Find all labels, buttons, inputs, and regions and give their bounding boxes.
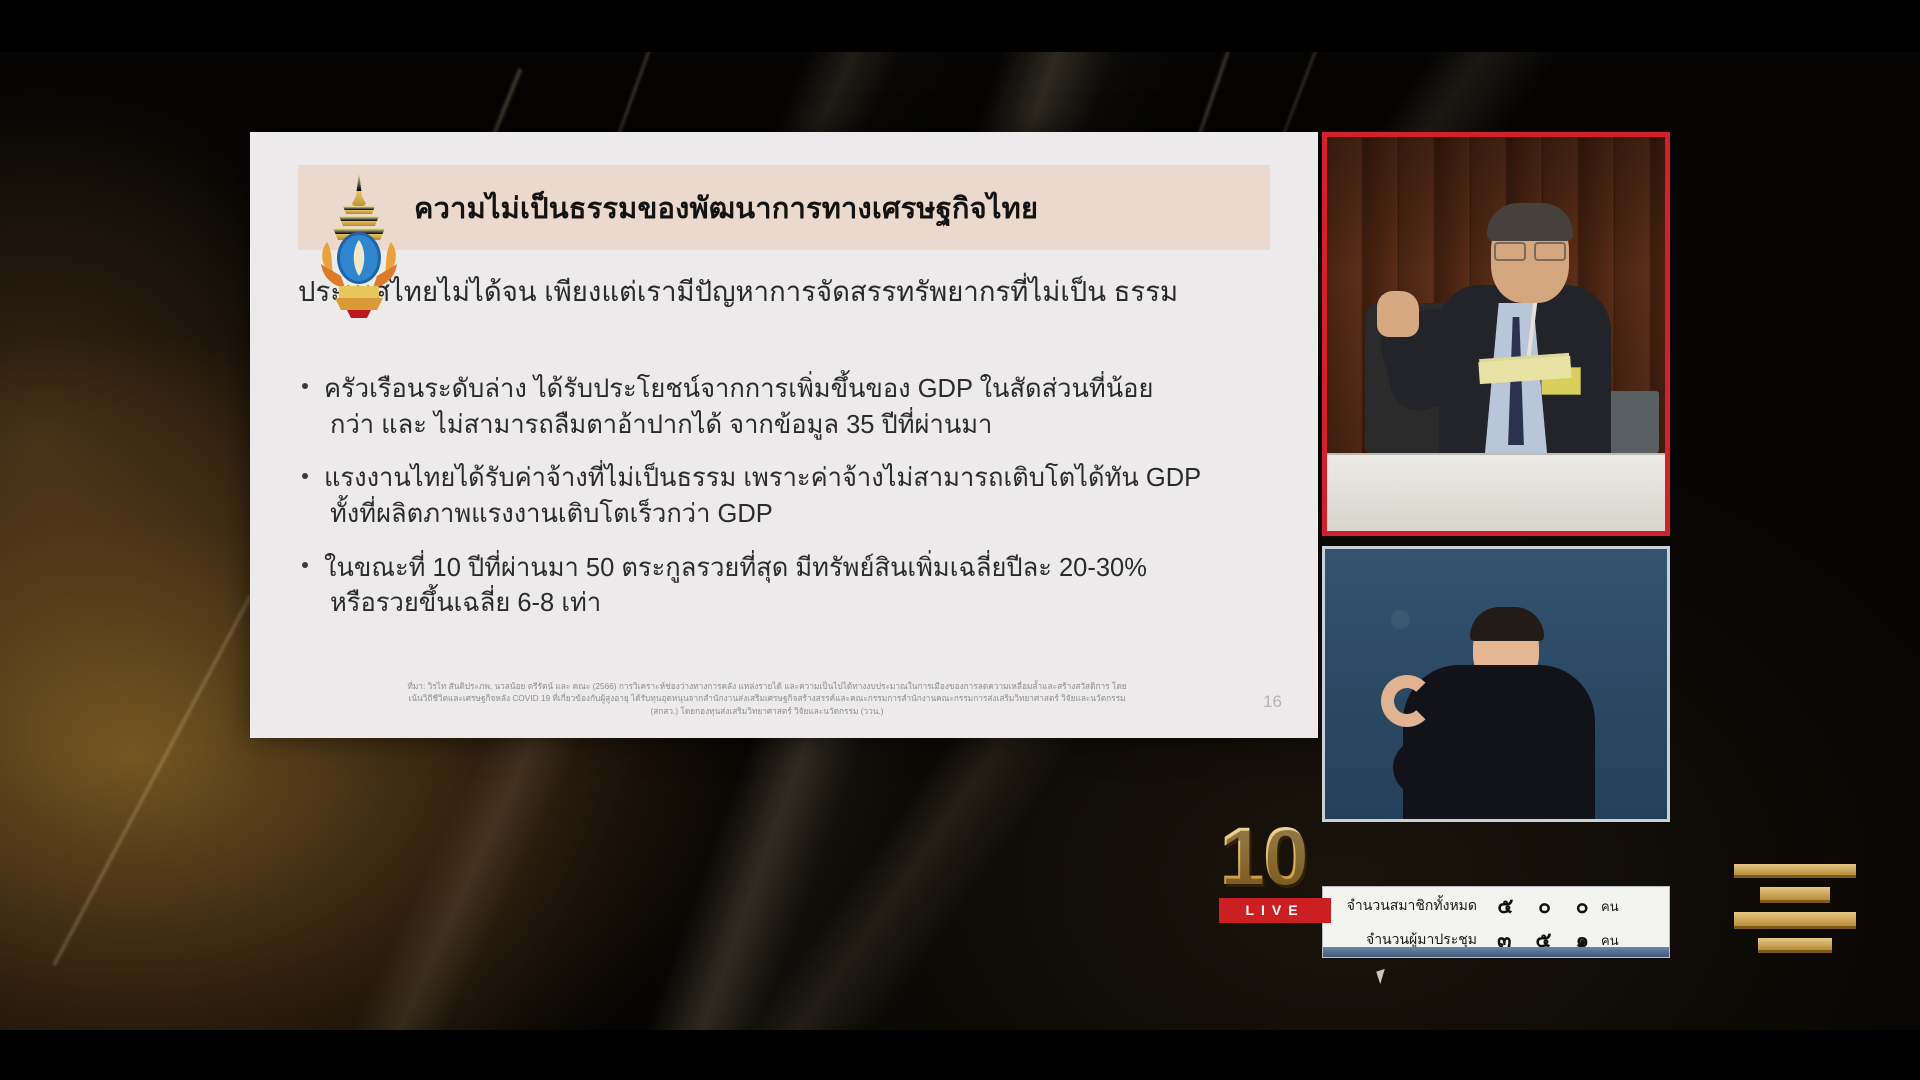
chamber-desk (1327, 453, 1665, 531)
slide-footnote-source: ที่มา: วิรไท สันติประภพ, นวลน้อย ตรีรัตน… (402, 680, 1132, 717)
speaker-video-feed (1322, 132, 1670, 536)
channel-10-live-logo: 10 LIVE (1219, 818, 1335, 930)
thai-parliament-emblem-icon (313, 170, 405, 320)
bullet-line-2: หรือรวยขึ้นเฉลี่ย 6-8 เท่า (324, 586, 1298, 622)
attendance-box-footer (1323, 947, 1669, 957)
bullet-dot-icon (302, 383, 308, 389)
bullet-line-1: ครัวเรือนระดับล่าง ได้รับประโยชน์จากการเ… (324, 375, 1153, 403)
letterbox-top (0, 0, 1920, 52)
attendance-total-unit: คน (1601, 896, 1619, 917)
letterbox-bottom (0, 1030, 1920, 1080)
bullet-line-1: แรงงานไทยได้รับค่าจ้างที่ไม่เป็นธรรม เพร… (324, 464, 1201, 492)
digit: ๕ (1497, 890, 1513, 923)
speaker-hand (1377, 291, 1419, 337)
broadcast-screen: ความไม่เป็นธรรมของพัฒนาการทางเศรษฐกิจไทย (0, 0, 1920, 1080)
glasses-icon (1493, 242, 1567, 257)
interpreter-signing-hand (1381, 675, 1433, 727)
bullet-line-2: กว่า และ ไม่สามารถลืมตาอ้าปากได้ จากข้อม… (324, 408, 1298, 444)
speaker-person (1423, 203, 1623, 453)
attendance-total-digits: ๕ ๐ ๐ (1485, 890, 1601, 923)
attendance-info-box: จำนวนสมาชิกทั้งหมด ๕ ๐ ๐ คน จำนวนผู้มาปร… (1322, 886, 1670, 958)
presentation-slide: ความไม่เป็นธรรมของพัฒนาการทางเศรษฐกิจไทย (250, 132, 1318, 738)
channel-number: 10 (1219, 818, 1335, 896)
bullet-line-2: ทั้งที่ผลิตภาพแรงงานเติบโตเร็วกว่า GDP (324, 497, 1298, 533)
attendance-row-total: จำนวนสมาชิกทั้งหมด ๕ ๐ ๐ คน (1323, 891, 1669, 921)
digit: ๐ (1538, 890, 1551, 923)
slide-subtitle: ประเทศไทยไม่ได้จน เพียงแต่เรามีปัญหาการจ… (298, 272, 1278, 311)
speaker-hair (1487, 203, 1573, 241)
bullet-line-1: ในขณะที่ 10 ปีที่ผ่านมา 50 ตระกูลรวยที่ส… (324, 554, 1147, 582)
bullet-dot-icon (302, 562, 308, 568)
parliament-bars-logo-icon (1732, 864, 1858, 968)
digit: ๐ (1576, 890, 1589, 923)
slide-bullet-list: ครัวเรือนระดับล่าง ได้รับประโยชน์จากการเ… (298, 372, 1298, 640)
list-item: แรงงานไทยได้รับค่าจ้างที่ไม่เป็นธรรม เพร… (298, 461, 1298, 532)
light-streak (52, 593, 254, 966)
list-item: ในขณะที่ 10 ปีที่ผ่านมา 50 ตระกูลรวยที่ส… (298, 551, 1298, 622)
attendance-total-label: จำนวนสมาชิกทั้งหมด (1333, 895, 1485, 917)
bullet-dot-icon (302, 473, 308, 479)
slide-page-number: 16 (1263, 692, 1282, 712)
sign-language-interpreter-feed (1322, 546, 1670, 822)
slide-title-band: ความไม่เป็นธรรมของพัฒนาการทางเศรษฐกิจไทย (298, 165, 1270, 250)
slide-title: ความไม่เป็นธรรมของพัฒนาการทางเศรษฐกิจไทย (414, 185, 1038, 231)
list-item: ครัวเรือนระดับล่าง ได้รับประโยชน์จากการเ… (298, 372, 1298, 443)
